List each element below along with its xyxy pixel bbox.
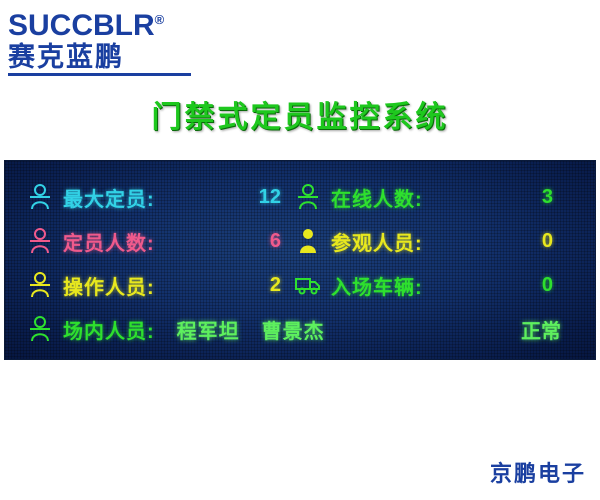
page-title: 门禁式定员监控系统 <box>0 92 600 136</box>
status-badge: 正常 <box>521 315 575 344</box>
led-row: 定员人数: 6 参观人员: 0 <box>27 219 575 263</box>
company-logo: SUCCBLR® 赛克蓝鹏 <box>8 4 218 74</box>
led-value: 2 <box>270 274 295 297</box>
led-label: 操作人员: <box>63 271 155 300</box>
led-value: 12 <box>259 186 295 209</box>
led-value: 3 <box>542 186 567 209</box>
led-value: 0 <box>542 274 567 297</box>
led-row-people-inside: 场内人员: 程军坦曹景杰 正常 <box>27 307 575 351</box>
logo-wordmark-text: SUCCBLR <box>8 9 155 42</box>
led-field-online-count: 在线人数: 3 <box>295 183 567 212</box>
led-label: 定员人数: <box>63 227 155 256</box>
person-yellow-icon <box>295 227 321 255</box>
led-value: 0 <box>542 230 567 253</box>
person-green-icon <box>27 315 53 343</box>
led-display-panel: 最大定员: 12 在线人数: 3 <box>4 160 596 360</box>
led-field-max-capacity: 最大定员: 12 <box>27 183 295 212</box>
led-label: 在线人数: <box>331 183 423 212</box>
led-field-visitors: 参观人员: 0 <box>295 227 567 256</box>
people-inside-names: 程军坦曹景杰 <box>177 315 347 344</box>
led-row: 操作人员: 2 入场车辆: 0 <box>27 263 575 307</box>
led-rows-container: 最大定员: 12 在线人数: 3 <box>27 175 575 351</box>
led-value: 6 <box>270 230 295 253</box>
person-yellow-icon <box>27 271 53 299</box>
person-green-icon <box>295 183 321 211</box>
person-name: 曹景杰 <box>262 321 325 343</box>
led-field-operators: 操作人员: 2 <box>27 271 295 300</box>
led-label: 场内人员: <box>63 315 155 344</box>
footer-brand: 京鹏电子 <box>490 456 586 488</box>
led-field-staff-quota: 定员人数: 6 <box>27 227 295 256</box>
led-label: 入场车辆: <box>331 271 423 300</box>
truck-green-icon <box>295 271 321 299</box>
person-name: 程军坦 <box>177 321 240 343</box>
logo-underline-divider <box>8 73 191 76</box>
logo-wordmark: SUCCBLR® <box>8 4 218 42</box>
logo-chinese-name: 赛克蓝鹏 <box>8 42 218 72</box>
person-cyan-icon <box>27 183 53 211</box>
led-field-vehicles-in: 入场车辆: 0 <box>295 271 567 300</box>
led-row: 最大定员: 12 在线人数: 3 <box>27 175 575 219</box>
led-label: 最大定员: <box>63 183 155 212</box>
person-pink-icon <box>27 227 53 255</box>
led-label: 参观人员: <box>331 227 423 256</box>
registered-trademark-icon: ® <box>155 12 165 27</box>
